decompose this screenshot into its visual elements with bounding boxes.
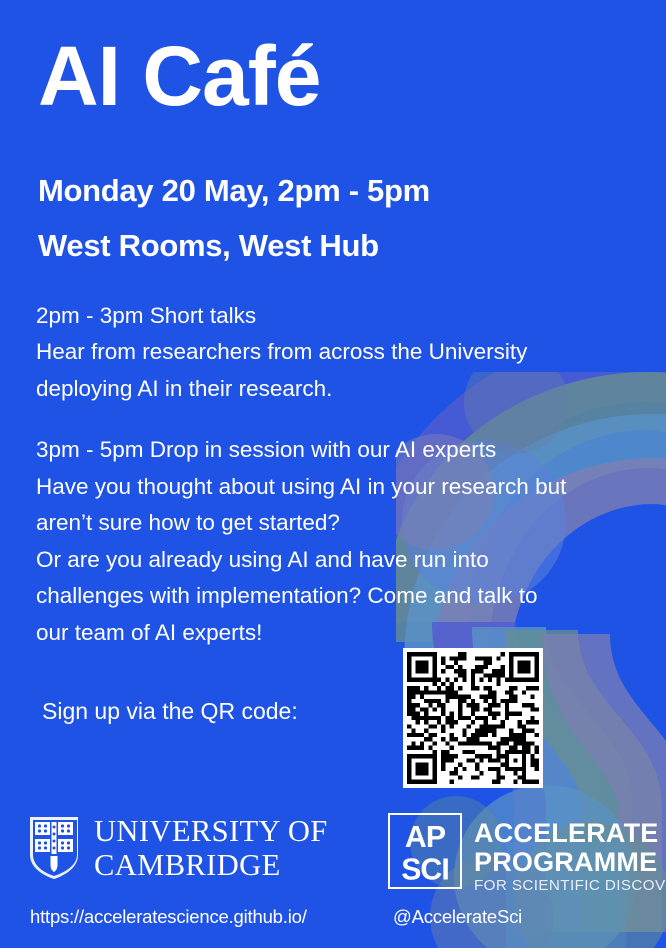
session-one-heading: 2pm - 3pm Short talks — [36, 298, 627, 334]
session-one-line-2: deploying AI in their research. — [36, 371, 627, 407]
session-two-heading: 3pm - 5pm Drop in session with our AI ex… — [36, 432, 627, 468]
cambridge-wordmark-line2: CAMBRIDGE — [94, 848, 328, 882]
accelerate-name-line2: PROGRAMME — [474, 848, 666, 877]
session-two-line-5: our team of AI experts! — [36, 615, 627, 651]
session-two-line-2: aren’t sure how to get started? — [36, 505, 627, 541]
cambridge-wordmark: UNIVERSITY OF CAMBRIDGE — [94, 814, 328, 882]
svg-text:AP: AP — [405, 821, 446, 854]
accelerate-logo: AP SCI ACCELERATE PROGRAMME FOR SCIENTIF… — [388, 813, 666, 893]
page-title: AI Café — [38, 34, 320, 118]
session-two-line-3: Or are you already using AI and have run… — [36, 542, 627, 578]
signup-instruction: Sign up via the QR code: — [42, 698, 298, 725]
cambridge-wordmark-line1: UNIVERSITY OF — [94, 814, 328, 848]
poster-root: AI Café Monday 20 May, 2pm - 5pm West Ro… — [0, 0, 666, 948]
website-url[interactable]: https://acceleratescience.github.io/ — [30, 906, 307, 928]
svg-text:SCI: SCI — [401, 853, 449, 886]
session-one-line-1: Hear from researchers from across the Un… — [36, 334, 627, 370]
cambridge-logo: UNIVERSITY OF CAMBRIDGE — [28, 814, 328, 882]
accelerate-tagline: FOR SCIENTIFIC DISCOVERY — [474, 878, 666, 893]
apsci-mark-icon: AP SCI — [388, 813, 462, 889]
body-copy: 2pm - 3pm Short talks Hear from research… — [36, 298, 627, 651]
session-one: 2pm - 3pm Short talks Hear from research… — [36, 298, 627, 407]
cambridge-crest-icon — [28, 815, 80, 881]
event-location: West Rooms, West Hub — [38, 218, 618, 273]
session-two-line-4: challenges with implementation? Come and… — [36, 578, 627, 614]
event-details: Monday 20 May, 2pm - 5pm West Rooms, Wes… — [38, 163, 618, 273]
accelerate-wordmark: ACCELERATE PROGRAMME FOR SCIENTIFIC DISC… — [474, 819, 666, 893]
session-two-line-1: Have you thought about using AI in your … — [36, 469, 627, 505]
social-handle[interactable]: @AccelerateSci — [393, 906, 522, 928]
accelerate-name-line1: ACCELERATE — [474, 819, 666, 848]
event-datetime: Monday 20 May, 2pm - 5pm — [38, 163, 618, 218]
qr-code[interactable] — [403, 648, 543, 788]
session-two: 3pm - 5pm Drop in session with our AI ex… — [36, 432, 627, 651]
qr-code-canvas[interactable] — [403, 648, 543, 788]
